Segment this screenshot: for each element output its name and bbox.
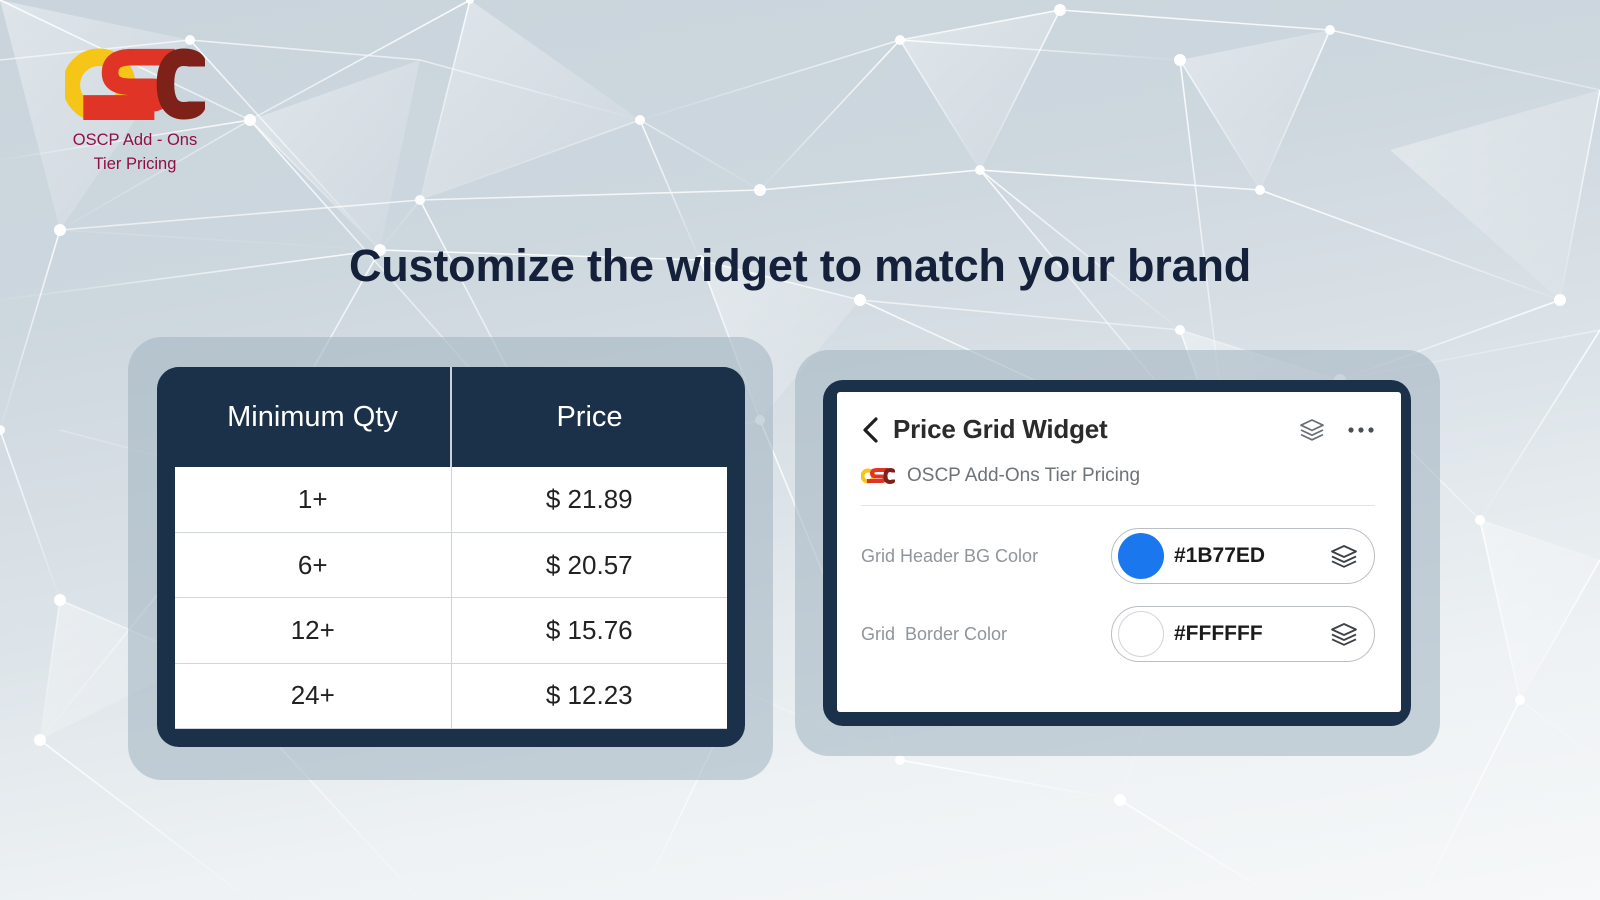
page-title: Customize the widget to match your brand (0, 240, 1600, 292)
cell-price: $ 21.89 (451, 467, 727, 532)
table-header-row: Minimum Qty Price (175, 367, 727, 467)
layers-icon[interactable] (1330, 622, 1358, 647)
layers-icon[interactable] (1330, 544, 1358, 569)
more-horizontal-icon[interactable] (1347, 425, 1375, 435)
cell-price: $ 15.76 (451, 598, 727, 663)
cell-qty: 24+ (175, 663, 451, 728)
column-header-price: Price (451, 367, 727, 467)
table-row: 12+ $ 15.76 (175, 598, 727, 663)
cell-qty: 1+ (175, 467, 451, 532)
color-hex-value: #1B77ED (1174, 544, 1330, 568)
widget-settings-frame: Price Grid Widget OSCP A (795, 350, 1440, 756)
layers-icon[interactable] (1299, 418, 1325, 442)
brand-caption: OSCP Add - Ons Tier Pricing (56, 129, 214, 177)
widget-settings-card: Price Grid Widget OSCP A (823, 380, 1411, 726)
price-grid-card: Minimum Qty Price 1+ $ 21.89 6+ $ 20.57 … (157, 367, 745, 747)
brand-caption-line1: OSCP Add - Ons (56, 129, 214, 153)
price-grid-table: Minimum Qty Price 1+ $ 21.89 6+ $ 20.57 … (175, 367, 727, 729)
color-input-grid-header-bg[interactable]: #1B77ED (1111, 528, 1375, 584)
widget-subtitle: OSCP Add-Ons Tier Pricing (907, 465, 1140, 487)
osc-logo-icon (65, 48, 205, 120)
widget-settings-panel: Price Grid Widget OSCP A (837, 392, 1401, 712)
color-swatch[interactable] (1118, 611, 1164, 657)
chevron-left-icon[interactable] (861, 417, 881, 443)
field-row-grid-header-bg-color: Grid Header BG Color #1B77ED (861, 528, 1375, 584)
table-row: 24+ $ 12.23 (175, 663, 727, 728)
cell-qty: 12+ (175, 598, 451, 663)
column-header-minimum-qty: Minimum Qty (175, 367, 451, 467)
table-row: 1+ $ 21.89 (175, 467, 727, 532)
field-label: Grid Header BG Color (861, 544, 1111, 568)
osc-logo-icon (861, 467, 895, 485)
color-swatch[interactable] (1118, 533, 1164, 579)
field-label: Grid Border Color (861, 622, 1111, 646)
cell-qty: 6+ (175, 532, 451, 597)
field-row-grid-border-color: Grid Border Color #FFFFFF (861, 606, 1375, 662)
widget-title: Price Grid Widget (893, 414, 1299, 445)
color-input-grid-border[interactable]: #FFFFFF (1111, 606, 1375, 662)
color-hex-value: #FFFFFF (1174, 622, 1330, 646)
cell-price: $ 20.57 (451, 532, 727, 597)
price-grid-frame: Minimum Qty Price 1+ $ 21.89 6+ $ 20.57 … (128, 337, 773, 780)
brand-caption-line2: Tier Pricing (56, 153, 214, 177)
brand-logo-block: OSCP Add - Ons Tier Pricing (56, 48, 214, 177)
cell-price: $ 12.23 (451, 663, 727, 728)
widget-subtitle-row: OSCP Add-Ons Tier Pricing (861, 465, 1375, 506)
widget-topbar: Price Grid Widget (861, 414, 1375, 445)
table-row: 6+ $ 20.57 (175, 532, 727, 597)
